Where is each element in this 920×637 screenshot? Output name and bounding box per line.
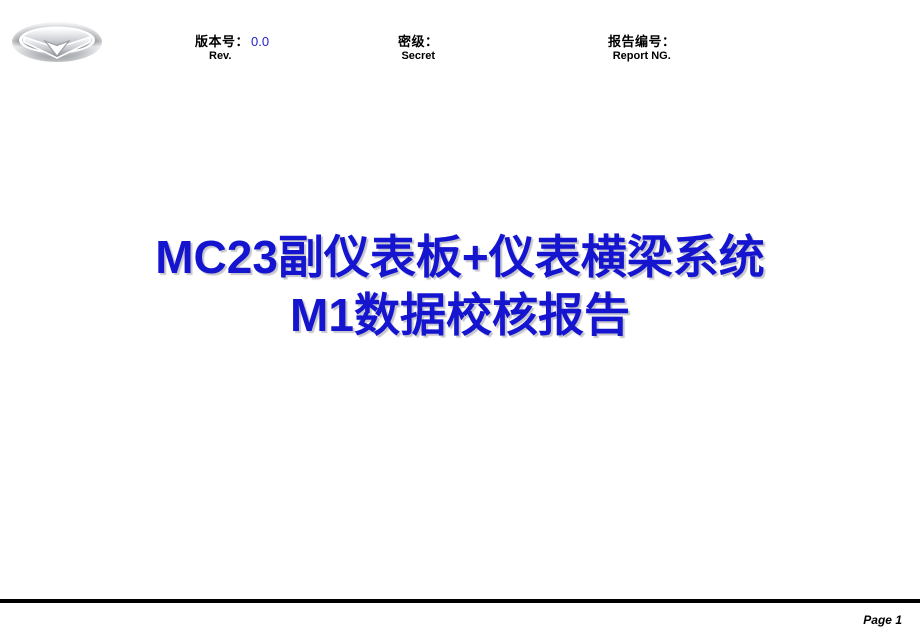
field-secrecy-cn-label: 密级： xyxy=(398,34,439,49)
slide-title: MC23副仪表板+仪表横梁系统 M1数据校核报告 xyxy=(0,228,920,344)
field-revision-en-label: Rev. xyxy=(195,51,269,63)
footer-divider xyxy=(0,599,920,603)
field-report-number-en-label: Report NG. xyxy=(608,51,676,63)
field-report-number: 报告编号： Report NG. xyxy=(608,34,676,62)
page-number: Page 1 xyxy=(863,613,902,627)
slide-header: 版本号：0.0 Rev. 密级： Secret 报告编号： Report NG. xyxy=(0,0,920,90)
field-revision-value: 0.0 xyxy=(251,34,269,49)
field-revision-cn-label: 版本号： xyxy=(195,34,249,49)
field-report-number-cn-label: 报告编号： xyxy=(608,34,676,49)
field-secrecy: 密级： Secret xyxy=(398,34,439,62)
title-line-1: MC23副仪表板+仪表横梁系统 xyxy=(0,228,920,286)
title-line-2: M1数据校核报告 xyxy=(0,286,920,344)
field-revision: 版本号：0.0 Rev. xyxy=(195,34,269,62)
field-secrecy-en-label: Secret xyxy=(398,51,439,63)
company-logo-icon xyxy=(8,18,106,66)
slide-canvas: 版本号：0.0 Rev. 密级： Secret 报告编号： Report NG.… xyxy=(0,0,920,637)
